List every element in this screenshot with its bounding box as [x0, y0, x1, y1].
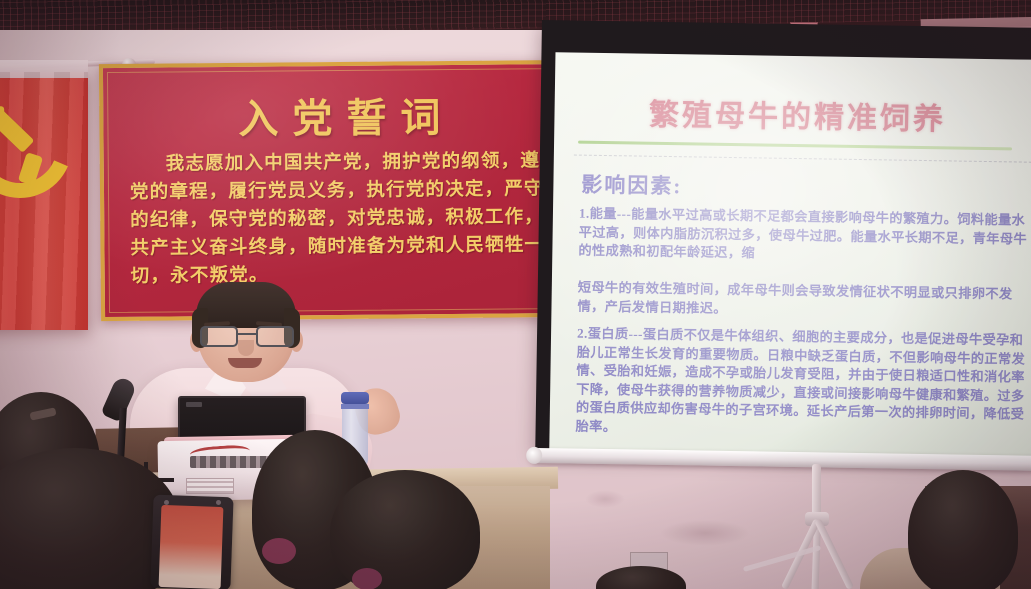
hair-scrunchie-center: [262, 538, 296, 564]
audience-head-center-right: [330, 470, 480, 589]
eyeglass-lens-right: [256, 326, 294, 347]
presenter-nose: [238, 340, 254, 356]
party-oath-banner: 入党誓词 我志愿加入中国共产党，拥护党的纲领，遵守党的章程，履行党员义务，执行党…: [99, 60, 581, 321]
projector-vent: [186, 478, 234, 494]
smartphone-sensor-right: [216, 500, 221, 505]
slide-dotted-rule: [574, 155, 1031, 163]
water-bottle-ring: [341, 404, 369, 409]
water-bottle-cap[interactable]: [341, 392, 369, 404]
smartphone-sensor-left: [164, 500, 169, 505]
eyeglass-bridge: [236, 333, 256, 335]
slide-title: 繁殖母牛的精准饲养: [554, 88, 1031, 140]
hammer-head-shape: [0, 106, 5, 127]
eyeglass-lens-left: [200, 326, 238, 347]
hammer-and-sickle-icon: [0, 84, 74, 188]
slide-title-rule: [578, 141, 1012, 151]
slide-section-heading: 影响因素:: [581, 169, 682, 201]
smartphone-screen[interactable]: [159, 505, 224, 589]
banner-oath-text: 我志愿加入中国共产党，拥护党的纲领，遵守党的章程，履行党员义务，执行党的决定，严…: [130, 146, 569, 290]
wall-mark: [660, 520, 750, 546]
audience-head-right: [908, 470, 1018, 589]
presenter-mouth: [228, 358, 262, 368]
slide-paragraph-energy-cont: 短母牛的有效生殖时间，成年母牛则会导致发情征状不明显或只排卵不发情，产后发情日期…: [577, 279, 1031, 323]
slide-paragraph-energy: 1.能量---能量水平过高或长期不足都会直接影响母牛的繁殖力。饲料能量水平过高，…: [578, 205, 1031, 268]
slide-paragraph-protein: 2.蛋白质---蛋白质不仅是牛体组织、细胞的主要成分，也是促进母牛受孕和胎儿正常…: [575, 325, 1031, 443]
lecture-room-photo: 入党誓词 我志愿加入中国共产党，拥护党的纲领，遵守党的章程，履行党员义务，执行党…: [0, 0, 1031, 589]
projector-screen-assembly: 繁殖母牛的精准饲养 影响因素: 1.能量---能量水平过高或长期不足都会直接影响…: [535, 20, 1031, 473]
presenter-hair: [196, 282, 296, 328]
tripod-post: [812, 464, 821, 516]
laptop-logo: [186, 402, 202, 407]
projected-slide: 繁殖母牛的精准饲养 影响因素: 1.能量---能量水平过高或长期不足都会直接影响…: [549, 52, 1031, 458]
banner-title: 入党誓词: [103, 84, 575, 146]
hair-scrunchie-right: [352, 568, 382, 589]
wall-mark-secondary: [585, 490, 625, 508]
